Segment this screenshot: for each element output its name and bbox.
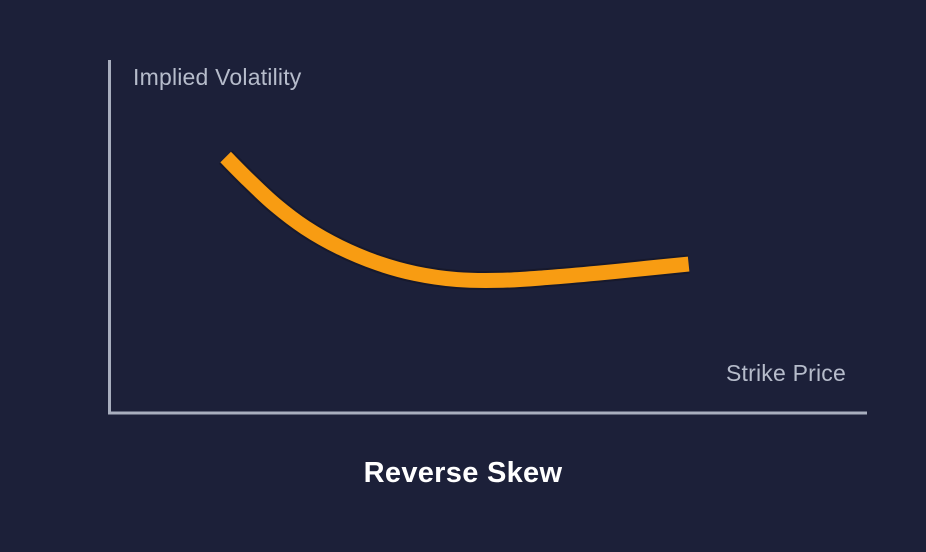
skew-curve-group <box>226 157 689 280</box>
y-axis-label: Implied Volatility <box>133 66 302 89</box>
chart-figure: Implied Volatility Strike Price Reverse … <box>0 0 926 552</box>
x-axis-label: Strike Price <box>726 362 846 385</box>
chart-title: Reverse Skew <box>0 458 926 490</box>
